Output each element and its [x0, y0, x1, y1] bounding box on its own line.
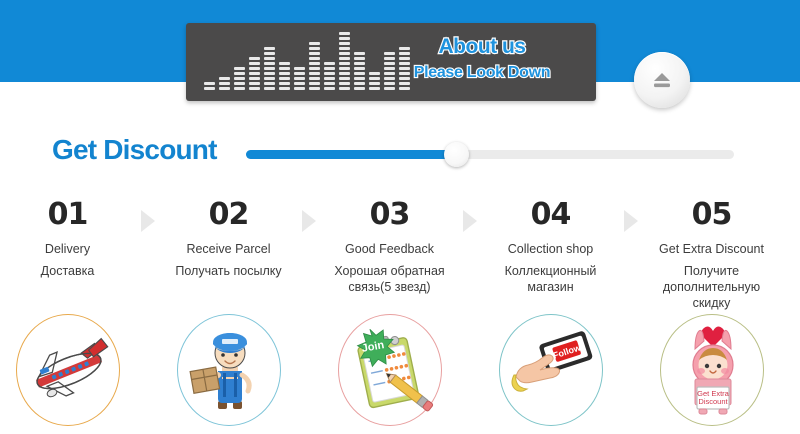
- equalizer-segment: [324, 72, 335, 75]
- equalizer-segment: [249, 57, 260, 60]
- equalizer-bar: [369, 72, 380, 90]
- equalizer-segment: [264, 62, 275, 65]
- get-discount-label: Get Discount: [52, 134, 217, 166]
- about-us-title: About us: [382, 34, 582, 60]
- equalizer-segment: [294, 67, 305, 70]
- icons-row: Join Follow: [0, 314, 800, 432]
- equalizer-segment: [249, 62, 260, 65]
- equalizer-segment: [384, 87, 395, 90]
- equalizer-segment: [294, 82, 305, 85]
- equalizer-segment: [309, 87, 320, 90]
- step-title-en: Collection shop: [483, 241, 618, 258]
- triangle-right-icon: [624, 210, 638, 232]
- step-04: 04Collection shopКоллекционный магазин: [483, 196, 618, 295]
- triangle-right-icon: [141, 210, 155, 232]
- equalizer-segment: [219, 87, 230, 90]
- equalizer-segment: [339, 57, 350, 60]
- equalizer-segment: [279, 67, 290, 70]
- equalizer-segment: [339, 77, 350, 80]
- equalizer-segment: [279, 77, 290, 80]
- girl-discount-sign-icon: Get Extra Discount: [660, 314, 764, 426]
- equalizer-bar: [249, 57, 260, 90]
- equalizer-segment: [369, 72, 380, 75]
- equalizer-segment: [279, 87, 290, 90]
- equalizer-segment: [324, 87, 335, 90]
- steps-row: 01DeliveryДоставка02Receive ParcelПолуча…: [0, 196, 800, 316]
- equalizer-segment: [309, 67, 320, 70]
- equalizer-segment: [294, 77, 305, 80]
- equalizer-segment: [339, 72, 350, 75]
- equalizer-segment: [309, 82, 320, 85]
- equalizer-segment: [309, 77, 320, 80]
- equalizer-bar: [279, 62, 290, 90]
- equalizer-segment: [324, 77, 335, 80]
- equalizer-segment: [309, 62, 320, 65]
- about-us-panel: About us Please Look Down: [186, 23, 596, 101]
- equalizer-segment: [309, 72, 320, 75]
- equalizer-bar: [264, 47, 275, 90]
- equalizer-segment: [249, 82, 260, 85]
- equalizer-segment: [294, 72, 305, 75]
- triangle-right-icon: [463, 210, 477, 232]
- airplane-icon: [16, 314, 120, 426]
- step-title-en: Good Feedback: [322, 241, 457, 258]
- equalizer-segment: [354, 62, 365, 65]
- equalizer-segment: [264, 52, 275, 55]
- equalizer-segment: [234, 72, 245, 75]
- equalizer-segment: [204, 87, 215, 90]
- equalizer-bar: [204, 82, 215, 90]
- equalizer-segment: [339, 32, 350, 35]
- equalizer-segment: [324, 62, 335, 65]
- equalizer-segment: [339, 42, 350, 45]
- equalizer-segment: [354, 77, 365, 80]
- equalizer-segment: [354, 57, 365, 60]
- equalizer-segment: [264, 87, 275, 90]
- equalizer-segment: [249, 67, 260, 70]
- step-title-en: Receive Parcel: [161, 241, 296, 258]
- equalizer-segment: [339, 87, 350, 90]
- step-title-ru: Получать посылку: [161, 263, 296, 279]
- step-02: 02Receive ParcelПолучать посылку: [161, 196, 296, 279]
- equalizer-segment: [264, 47, 275, 50]
- equalizer-segment: [264, 57, 275, 60]
- about-us-subtitle: Please Look Down: [382, 62, 582, 84]
- icon-cell-02: [161, 314, 296, 426]
- icon-cell-01: [0, 314, 135, 426]
- icon-cell-03: Join: [322, 314, 457, 426]
- step-title-ru: Коллекционный магазин: [483, 263, 618, 295]
- equalizer-segment: [369, 77, 380, 80]
- equalizer-segment: [234, 87, 245, 90]
- delivery-man-icon: [177, 314, 281, 426]
- equalizer-segment: [309, 42, 320, 45]
- equalizer-bar: [339, 32, 350, 90]
- step-number: 04: [483, 196, 618, 234]
- equalizer-segment: [369, 82, 380, 85]
- equalizer-segment: [399, 87, 410, 90]
- equalizer-segment: [324, 67, 335, 70]
- equalizer-bar: [219, 77, 230, 90]
- promo-banner-page: About us Please Look Down Get Discount 0…: [0, 0, 800, 434]
- discount-slider-fill: [246, 150, 456, 159]
- equalizer-segment: [264, 82, 275, 85]
- equalizer-bar: [324, 62, 335, 90]
- eject-icon: [649, 69, 675, 91]
- step-arrow-4: [618, 196, 644, 232]
- discount-slider-track[interactable]: [246, 150, 734, 159]
- equalizer-segment: [204, 82, 215, 85]
- sign-line2: Discount: [698, 397, 728, 406]
- step-05: 05Get Extra DiscountПолучите дополнитель…: [644, 196, 779, 311]
- equalizer-segment: [249, 72, 260, 75]
- step-03: 03Good FeedbackХорошая обратная связь(5 …: [322, 196, 457, 295]
- equalizer-segment: [264, 72, 275, 75]
- step-number: 05: [644, 196, 779, 234]
- icon-cell-05: Get Extra Discount: [644, 314, 779, 426]
- equalizer-bar: [309, 42, 320, 90]
- equalizer-bar: [354, 52, 365, 90]
- equalizer-segment: [354, 87, 365, 90]
- equalizer-segment: [219, 82, 230, 85]
- step-arrow-2: [296, 196, 322, 232]
- equalizer-segment: [369, 87, 380, 90]
- equalizer-segment: [234, 82, 245, 85]
- equalizer-segment: [294, 87, 305, 90]
- equalizer-segment: [309, 57, 320, 60]
- step-01: 01DeliveryДоставка: [0, 196, 135, 279]
- step-title-ru: Получите дополнительную скидку: [644, 263, 779, 311]
- equalizer-segment: [279, 72, 290, 75]
- step-number: 02: [161, 196, 296, 234]
- step-title-en: Get Extra Discount: [644, 241, 779, 258]
- equalizer-bar: [234, 67, 245, 90]
- equalizer-segment: [249, 77, 260, 80]
- step-arrow-1: [135, 196, 161, 232]
- equalizer-segment: [264, 77, 275, 80]
- equalizer-segment: [219, 77, 230, 80]
- icon-cell-04: Follow: [483, 314, 618, 426]
- equalizer-segment: [279, 62, 290, 65]
- step-title-en: Delivery: [0, 241, 135, 258]
- equalizer-segment: [354, 52, 365, 55]
- equalizer-segment: [279, 82, 290, 85]
- equalizer-segment: [234, 77, 245, 80]
- equalizer-segment: [354, 67, 365, 70]
- step-number: 03: [322, 196, 457, 234]
- discount-slider-handle[interactable]: [444, 142, 469, 167]
- equalizer-segment: [339, 37, 350, 40]
- equalizer-segment: [354, 72, 365, 75]
- equalizer-segment: [309, 47, 320, 50]
- equalizer-bars: [204, 32, 410, 90]
- equalizer-segment: [339, 82, 350, 85]
- equalizer-bar: [294, 67, 305, 90]
- equalizer-segment: [249, 87, 260, 90]
- step-title-ru: Хорошая обратная связь(5 звезд): [322, 263, 457, 295]
- step-number: 01: [0, 196, 135, 234]
- equalizer-segment: [264, 67, 275, 70]
- step-arrow-3: [457, 196, 483, 232]
- equalizer-segment: [309, 52, 320, 55]
- hand-phone-follow-icon: Follow: [499, 314, 603, 426]
- eject-button[interactable]: [634, 52, 690, 108]
- equalizer-segment: [339, 47, 350, 50]
- equalizer-segment: [339, 62, 350, 65]
- about-us-text-block: About us Please Look Down: [382, 34, 582, 84]
- clipboard-review-icon: Join: [338, 314, 442, 426]
- equalizer-segment: [324, 82, 335, 85]
- equalizer-segment: [339, 52, 350, 55]
- step-title-ru: Доставка: [0, 263, 135, 279]
- equalizer-segment: [339, 67, 350, 70]
- triangle-right-icon: [302, 210, 316, 232]
- equalizer-segment: [354, 82, 365, 85]
- equalizer-segment: [234, 67, 245, 70]
